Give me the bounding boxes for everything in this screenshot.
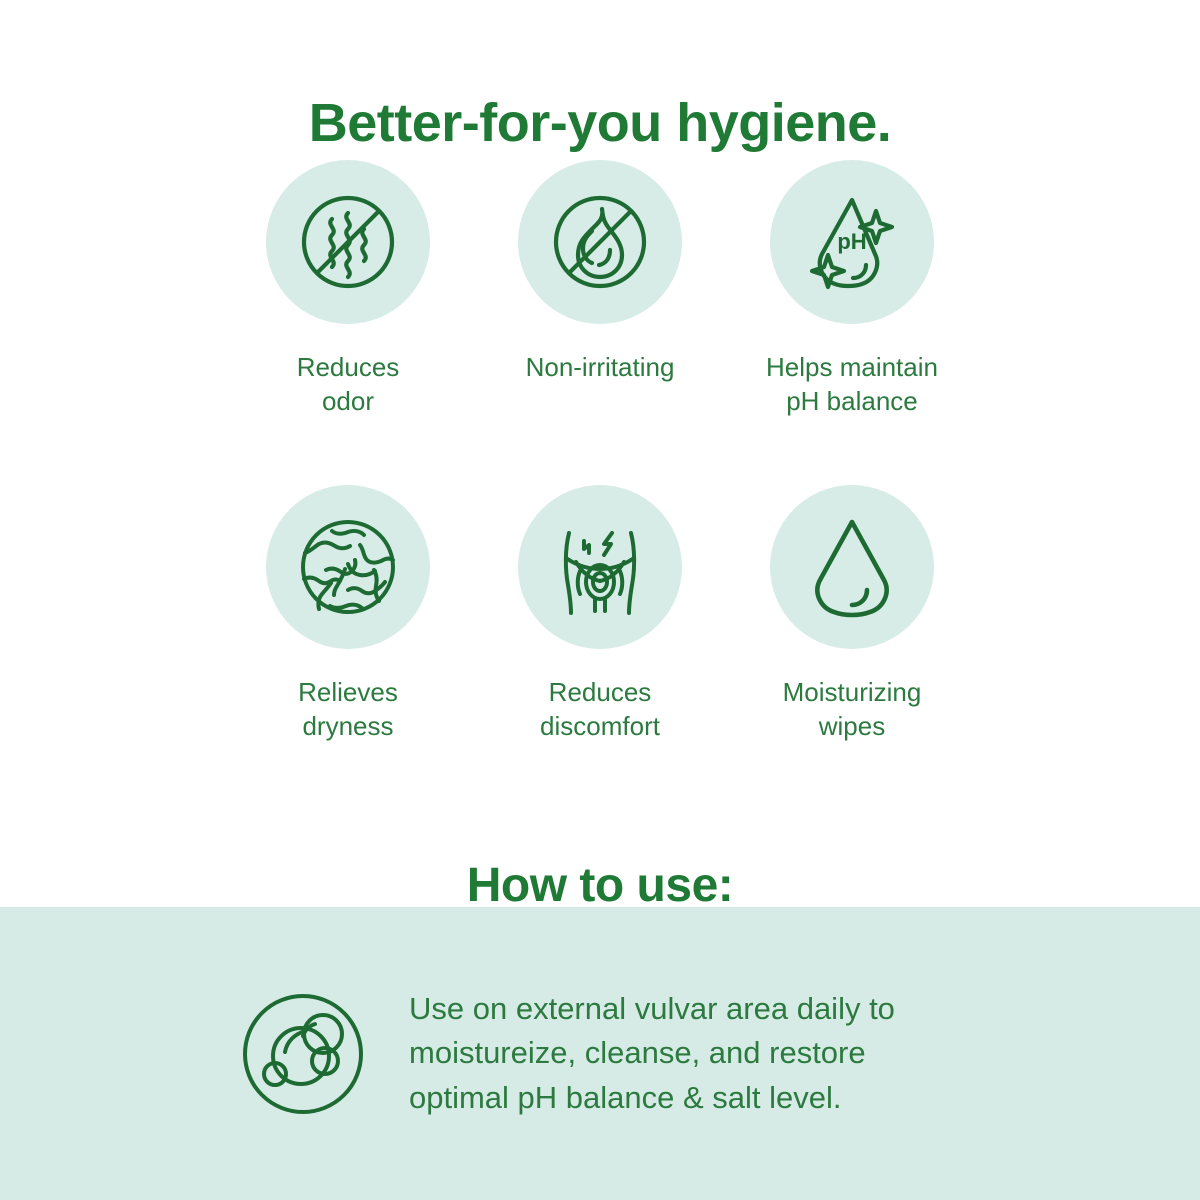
no-flame-icon xyxy=(540,182,660,302)
dry-skin-icon xyxy=(288,507,408,627)
benefit-moisturizing-wipes: Moisturizing wipes xyxy=(726,485,978,810)
benefit-ph-balance: pH Helps maintain pH balance xyxy=(726,160,978,485)
benefit-label: Reduces odor xyxy=(297,350,400,419)
page-title: Better-for-you hygiene. xyxy=(0,94,1200,153)
no-odor-icon xyxy=(288,182,408,302)
water-droplet-icon xyxy=(792,507,912,627)
how-to-use-section: Use on external vulvar area daily to moi… xyxy=(0,907,1200,1200)
benefit-label: Moisturizing wipes xyxy=(783,675,922,744)
benefit-icon-circle xyxy=(266,160,430,324)
benefit-label: Reduces discomfort xyxy=(540,675,660,744)
bubbles-icon xyxy=(233,984,373,1124)
how-to-use-title: How to use: xyxy=(0,858,1200,913)
benefit-icon-circle: pH xyxy=(770,160,934,324)
how-to-use-instructions: Use on external vulvar area daily to moi… xyxy=(409,987,895,1119)
benefit-reduces-discomfort: Reduces discomfort xyxy=(474,485,726,810)
benefit-icon-circle xyxy=(518,485,682,649)
benefit-relieves-dryness: Relieves dryness xyxy=(222,485,474,810)
svg-text:pH: pH xyxy=(837,229,866,254)
benefit-reduces-odor: Reduces odor xyxy=(222,160,474,485)
benefits-grid: Reduces odor Non-irritating xyxy=(222,160,978,810)
product-benefits-infographic: Better-for-you hygiene. Reduces odor xyxy=(0,0,1200,1200)
benefit-label: Relieves dryness xyxy=(298,675,398,744)
ph-droplet-icon: pH xyxy=(792,182,912,302)
pelvic-pain-icon xyxy=(540,507,660,627)
benefit-label: Helps maintain pH balance xyxy=(766,350,938,419)
benefit-non-irritating: Non-irritating xyxy=(474,160,726,485)
benefit-icon-circle xyxy=(518,160,682,324)
benefit-icon-circle xyxy=(266,485,430,649)
benefit-icon-circle xyxy=(770,485,934,649)
benefit-label: Non-irritating xyxy=(526,350,675,384)
